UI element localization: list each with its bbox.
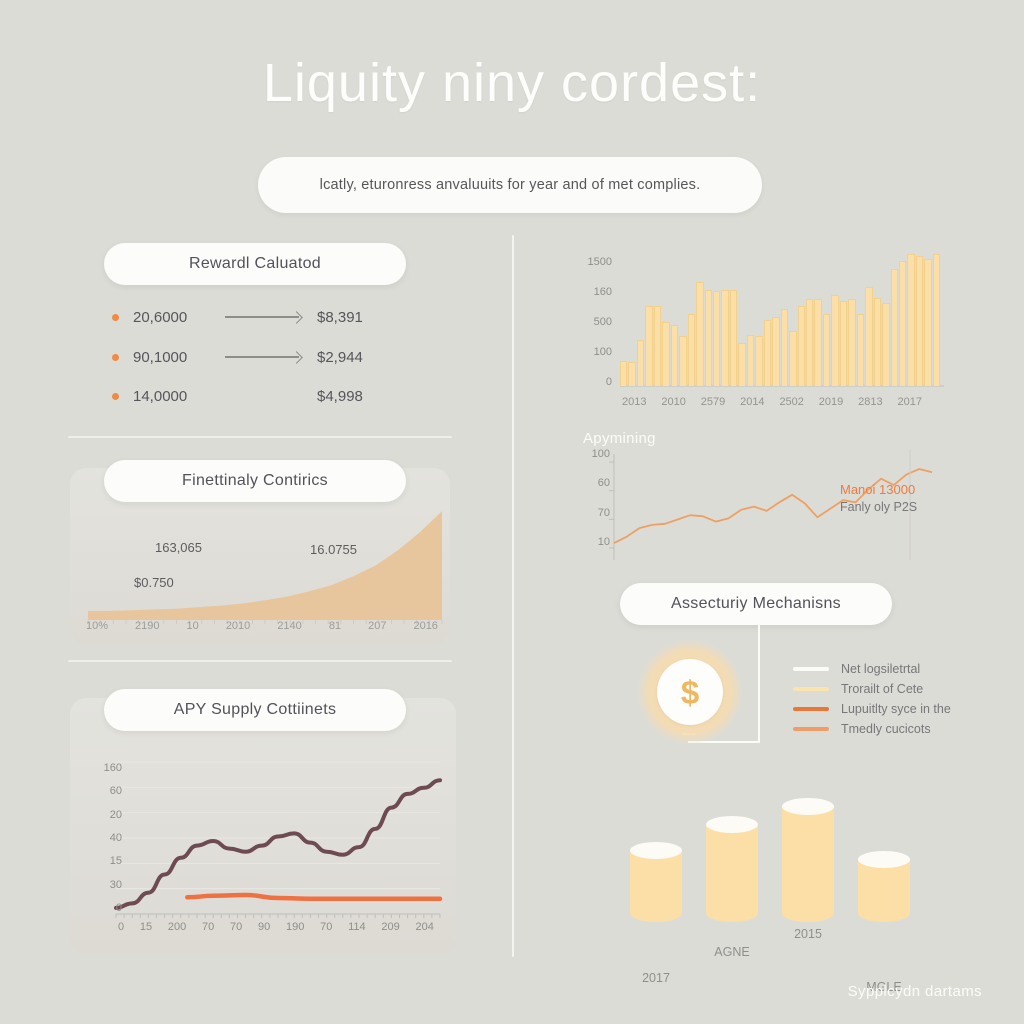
bar-x-tick-label: 2813 bbox=[858, 396, 882, 408]
mechanisms-legend: Net logsiletrtalTrorailt of CeteLupuitlt… bbox=[793, 659, 951, 739]
apy-x-tick-label: 90 bbox=[258, 921, 270, 933]
area-tick-label: 207 bbox=[368, 620, 386, 632]
rewards-card-heading: Rewardl Caluatod bbox=[104, 243, 406, 285]
bar bbox=[730, 290, 737, 386]
bar bbox=[907, 254, 914, 386]
reward-from-value: 14,0000 bbox=[133, 388, 225, 405]
apy-x-tick-label: 70 bbox=[230, 921, 242, 933]
cylinder-body bbox=[858, 860, 910, 922]
bar bbox=[924, 259, 931, 386]
bar-x-tick-label: 2014 bbox=[740, 396, 764, 408]
dollar-glyph: $ bbox=[681, 676, 699, 709]
bar bbox=[798, 306, 805, 386]
horizontal-divider-1 bbox=[68, 436, 452, 438]
area-tick-label: 81 bbox=[329, 620, 341, 632]
legend-label: Lupuitlty syce in the bbox=[841, 702, 951, 716]
infographic-canvas: Liquity niny cordest: lcatly, eturonress… bbox=[0, 0, 1024, 1024]
legend-swatch-icon bbox=[793, 667, 829, 671]
apy-x-tick-label: 15 bbox=[140, 921, 152, 933]
bar bbox=[671, 325, 678, 386]
legend-label: Trorailt of Cete bbox=[841, 682, 923, 696]
apy-x-axis-ticks: 01520070709019070114209204 bbox=[118, 921, 434, 933]
apy-x-tick-label: 70 bbox=[202, 921, 214, 933]
history-bar-chart bbox=[620, 250, 940, 386]
cylinder-cap bbox=[706, 816, 758, 833]
cylinder-body bbox=[706, 825, 758, 922]
legend-swatch-icon bbox=[793, 707, 829, 711]
apy-x-tick-label: 190 bbox=[286, 921, 304, 933]
arrow-right-icon-hidden bbox=[225, 391, 311, 401]
area-tick-label: 2190 bbox=[135, 620, 159, 632]
bar bbox=[899, 261, 906, 386]
line-y-tick-label: 70 bbox=[598, 507, 610, 519]
horizontal-divider-2 bbox=[68, 660, 452, 662]
bar bbox=[721, 290, 728, 386]
bar-y-tick-label: 1500 bbox=[588, 256, 612, 268]
bar-x-tick-label: 2013 bbox=[622, 396, 646, 408]
bar bbox=[772, 317, 779, 386]
apymining-y-axis-ticks: 100607010 bbox=[578, 448, 610, 548]
bar bbox=[705, 290, 712, 386]
apymining-annotation-secondary: Fanly oly P2S bbox=[840, 500, 917, 514]
apy-y-tick-label: 60 bbox=[110, 785, 122, 797]
bar bbox=[840, 301, 847, 386]
bar-y-axis-ticks: 15001605001000 bbox=[578, 256, 612, 388]
apy-x-tick-label: 70 bbox=[320, 921, 332, 933]
area-x-axis-ticks: 10%21901020102140812072016 bbox=[86, 620, 438, 632]
bar bbox=[874, 298, 881, 386]
bullet-dot-icon bbox=[112, 393, 119, 400]
bar bbox=[620, 361, 627, 386]
legend-row: Trorailt of Cete bbox=[793, 679, 951, 699]
apy-card-heading: APY Supply Cottiinets bbox=[104, 689, 406, 731]
subtitle-pill: lcatly, eturonress anvaluuits for year a… bbox=[258, 157, 762, 213]
apy-y-tick-label: 20 bbox=[110, 809, 122, 821]
bar-x-tick-label: 2017 bbox=[898, 396, 922, 408]
apy-y-tick-label: 30 bbox=[110, 879, 122, 891]
reward-to-value: $2,944 bbox=[317, 349, 363, 366]
apy-x-tick-label: 209 bbox=[381, 921, 399, 933]
bar-x-tick-label: 2502 bbox=[779, 396, 803, 408]
cylinder-label: AGNE bbox=[692, 945, 772, 959]
area-tick-label: 2016 bbox=[413, 620, 437, 632]
bullet-dot-icon bbox=[112, 314, 119, 321]
page-title: Liquity niny cordest: bbox=[0, 52, 1024, 114]
subtitle-text: lcatly, eturonress anvaluuits for year a… bbox=[320, 177, 701, 193]
bar bbox=[764, 320, 771, 386]
cylinder-bar: AGNE bbox=[706, 808, 758, 922]
bar bbox=[781, 309, 788, 386]
arrow-right-icon bbox=[225, 312, 311, 322]
mechanisms-connector-vertical bbox=[758, 625, 760, 743]
bar bbox=[933, 254, 940, 386]
bar bbox=[755, 336, 762, 386]
area-annotation-1: 163,065 bbox=[155, 540, 202, 555]
line-y-tick-label: 60 bbox=[598, 477, 610, 489]
bullet-dot-icon bbox=[112, 354, 119, 361]
legend-row: Tmedly cucicots bbox=[793, 719, 951, 739]
legend-row: Net logsiletrtal bbox=[793, 659, 951, 679]
apymining-title: Apymining bbox=[583, 430, 656, 447]
bar-x-tick-label: 2019 bbox=[819, 396, 843, 408]
reward-from-value: 20,6000 bbox=[133, 309, 225, 326]
bar bbox=[789, 331, 796, 386]
bar-y-tick-label: 500 bbox=[594, 316, 612, 328]
cylinder-bar: MGLE bbox=[858, 843, 910, 922]
apy-x-tick-label: 114 bbox=[348, 921, 366, 933]
footer-label: Sypplcydn dartams bbox=[848, 983, 982, 1000]
bar bbox=[857, 314, 864, 386]
apymining-annotation-primary: Manoi 13000 bbox=[840, 482, 915, 497]
bar bbox=[645, 306, 652, 386]
area-tick-label: 10% bbox=[86, 620, 108, 632]
area-tick-label: 2010 bbox=[226, 620, 250, 632]
legend-swatch-icon bbox=[793, 687, 829, 691]
apy-y-tick-label: 40 bbox=[110, 832, 122, 844]
legend-swatch-icon bbox=[793, 727, 829, 731]
bar bbox=[848, 299, 855, 386]
bar bbox=[916, 256, 923, 386]
bar bbox=[806, 299, 813, 386]
bar bbox=[738, 343, 745, 386]
apy-line-chart bbox=[70, 698, 456, 954]
cylinder-bar: 2015 bbox=[782, 790, 834, 922]
cylinder-body bbox=[630, 851, 682, 922]
vertical-divider bbox=[512, 235, 514, 957]
apy-y-tick-label: 0 bbox=[116, 902, 122, 914]
reward-row: 14,0000 $4,998 bbox=[112, 385, 363, 407]
bar bbox=[814, 299, 821, 386]
bar-x-tick-label: 2579 bbox=[701, 396, 725, 408]
bar bbox=[823, 314, 830, 386]
apy-x-tick-label: 200 bbox=[168, 921, 186, 933]
fundamentals-card-heading: Finettinaly Contirics bbox=[104, 460, 406, 502]
mechanisms-card-heading: Assecturiy Mechanisns bbox=[620, 583, 892, 625]
cylinder-bar: 2017 bbox=[630, 834, 682, 922]
cylinder-cap bbox=[630, 842, 682, 859]
area-annotation-3: $0.750 bbox=[134, 575, 174, 590]
bar bbox=[696, 282, 703, 386]
bar-x-tick-label: 2010 bbox=[661, 396, 685, 408]
bar-y-tick-label: 100 bbox=[594, 346, 612, 358]
bar bbox=[865, 287, 872, 386]
bar bbox=[747, 335, 754, 386]
apy-y-tick-label: 160 bbox=[104, 762, 122, 774]
apy-y-axis-ticks: 16060204015300 bbox=[92, 762, 122, 914]
bar bbox=[637, 340, 644, 386]
bar bbox=[882, 303, 889, 386]
area-annotation-2: 16.0755 bbox=[310, 542, 357, 557]
bar bbox=[688, 314, 695, 386]
reward-row: 90,1000 $2,944 bbox=[112, 346, 363, 368]
apy-y-tick-label: 15 bbox=[110, 855, 122, 867]
legend-label: Tmedly cucicots bbox=[841, 722, 931, 736]
reward-to-value: $8,391 bbox=[317, 309, 363, 326]
arrow-right-icon bbox=[225, 352, 311, 362]
apy-x-tick-label: 204 bbox=[416, 921, 434, 933]
legend-label: Net logsiletrtal bbox=[841, 662, 920, 676]
bar bbox=[713, 291, 720, 386]
cylinder-label: 2017 bbox=[616, 971, 696, 985]
bar bbox=[662, 322, 669, 386]
line-y-tick-label: 100 bbox=[592, 448, 610, 460]
apy-x-tick-label: 0 bbox=[118, 921, 124, 933]
reward-row: 20,6000 $8,391 bbox=[112, 306, 363, 328]
bar bbox=[891, 269, 898, 386]
area-tick-label: 10 bbox=[187, 620, 199, 632]
dollar-coin-icon: $ bbox=[657, 659, 723, 725]
bar bbox=[679, 336, 686, 386]
legend-row: Lupuitlty syce in the bbox=[793, 699, 951, 719]
bar bbox=[831, 295, 838, 386]
bar-y-tick-label: 160 bbox=[594, 286, 612, 298]
reward-from-value: 90,1000 bbox=[133, 349, 225, 366]
area-tick-label: 2140 bbox=[277, 620, 301, 632]
bar-x-axis-ticks: 20132010257920142502201928132017 bbox=[622, 396, 922, 408]
bar bbox=[628, 362, 635, 386]
cylinder-body bbox=[782, 807, 834, 922]
supply-cylinder-chart: 2017AGNE2015MGLE bbox=[630, 790, 930, 922]
reward-to-value: $4,998 bbox=[317, 388, 363, 405]
bar-y-tick-label: 0 bbox=[606, 376, 612, 388]
bar bbox=[654, 306, 661, 386]
cylinder-label: 2015 bbox=[768, 927, 848, 941]
line-y-tick-label: 10 bbox=[598, 536, 610, 548]
